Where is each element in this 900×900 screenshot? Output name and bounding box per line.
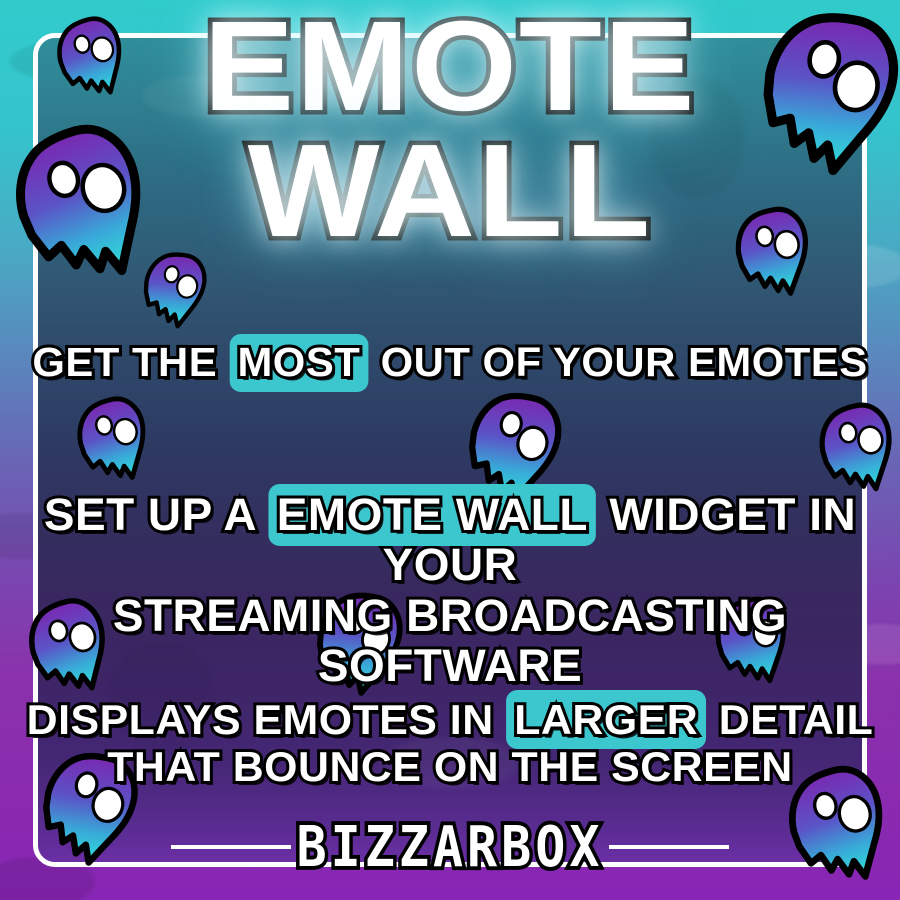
poster-content: EMOTE WALL GET THE MOST OUT OF YOUR EMOT…	[0, 0, 900, 900]
tagline-text: STREAMING BROADCASTING SOFTWARE	[113, 590, 787, 691]
tagline-3: DISPLAYS EMOTES IN LARGER DETAILTHAT BOU…	[0, 696, 900, 790]
tagline-text: SET UP A	[44, 489, 269, 540]
tagline-1: GET THE MOST OUT OF YOUR EMOTES	[0, 340, 900, 386]
brand-rule-left	[171, 845, 291, 849]
tagline-row: GET THE MOST OUT OF YOUR EMOTES	[0, 340, 900, 386]
tagline-text: DETAIL	[706, 696, 873, 743]
tagline-text: THAT BOUNCE ON THE SCREEN	[107, 743, 793, 790]
tagline-2: SET UP A EMOTE WALL WIDGET IN YOURSTREAM…	[0, 490, 900, 692]
brand-mark: BIZZARBOX	[0, 818, 900, 876]
tagline-text: OUT OF YOUR EMOTES	[368, 339, 867, 385]
tagline-row: DISPLAYS EMOTES IN LARGER DETAIL	[0, 696, 900, 743]
tagline-row: THAT BOUNCE ON THE SCREEN	[0, 743, 900, 790]
tagline-text: DISPLAYS EMOTES IN	[27, 696, 506, 743]
emote-wall-promo-poster: EMOTE WALL GET THE MOST OUT OF YOUR EMOT…	[0, 0, 900, 900]
tagline-row: STREAMING BROADCASTING SOFTWARE	[0, 591, 900, 692]
page-title: EMOTE WALL	[0, 8, 900, 251]
tagline-row: SET UP A EMOTE WALL WIDGET IN YOUR	[0, 490, 900, 591]
tagline-text: GET THE	[32, 339, 229, 385]
title-line-2: WALL	[0, 130, 900, 251]
tagline-highlight: EMOTE WALL	[269, 490, 596, 540]
tagline-highlight: LARGER	[506, 696, 706, 743]
tagline-highlight: MOST	[229, 340, 368, 386]
brand-name: BIZZARBOX	[287, 815, 614, 880]
title-line-1: EMOTE	[0, 8, 900, 126]
brand-rule-right	[609, 845, 729, 849]
